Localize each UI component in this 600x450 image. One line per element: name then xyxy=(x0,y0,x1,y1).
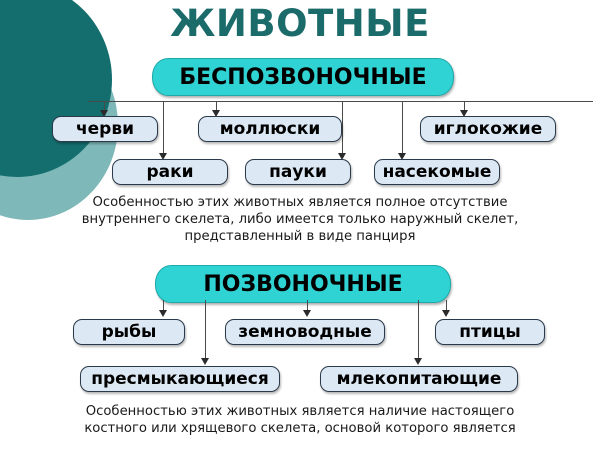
node-mollyuski-label: моллюски xyxy=(220,119,321,139)
note-vertebrates-line-1: Особенностью этих животных является нали… xyxy=(20,403,580,420)
node-pticy-label: птицы xyxy=(459,322,520,342)
connector-invertebrates-iglokozhie xyxy=(464,101,465,113)
node-presmykayushchiesya-label: пресмыкающиеся xyxy=(91,369,269,389)
connector-invertebrates-mollyuski xyxy=(216,101,217,113)
connector-bus-invertebrates xyxy=(88,101,593,102)
node-raki-label: раки xyxy=(146,162,193,182)
node-pauki[interactable]: пауки xyxy=(245,159,351,185)
note-invertebrates: Особенностью этих животных является полн… xyxy=(20,194,580,245)
connector-vertebrates-presmykayushchiesya xyxy=(205,300,206,362)
page-title: ЖИВОТНЫЕ xyxy=(0,2,600,45)
connector-invertebrates-pauki xyxy=(342,101,343,157)
node-mollyuski[interactable]: моллюски xyxy=(198,116,342,142)
group-heading-vertebrates-label: ПОЗВОНОЧНЫЕ xyxy=(203,272,402,297)
note-invertebrates-line-2: внутреннего скелета, либо имеется только… xyxy=(20,211,580,228)
connector-invertebrates-raki xyxy=(163,101,164,157)
node-zemnovodnye[interactable]: земноводные xyxy=(225,319,385,345)
connector-vertebrates-pticy xyxy=(446,300,447,313)
node-nasekomye[interactable]: насекомые xyxy=(374,159,500,185)
note-vertebrates-line-2: костного или хрящевого скелета, основой … xyxy=(20,420,580,437)
node-iglokozhie-label: иглокожие xyxy=(434,119,543,139)
node-nasekomye-label: насекомые xyxy=(383,162,492,182)
node-iglokozhie[interactable]: иглокожие xyxy=(420,116,556,142)
node-chervi[interactable]: черви xyxy=(52,116,158,142)
node-presmykayushchiesya[interactable]: пресмыкающиеся xyxy=(80,366,280,392)
arrowhead-zemnovodnye xyxy=(303,310,311,317)
connector-vertebrates-ryby xyxy=(163,300,164,313)
note-vertebrates: Особенностью этих животных является нали… xyxy=(20,403,580,437)
animal-classification-diagram: ЖИВОТНЫЕ БЕСПОЗВОНОЧНЫЕ черви моллюски и… xyxy=(0,0,600,450)
node-ryby-label: рыбы xyxy=(102,322,157,342)
group-heading-vertebrates[interactable]: ПОЗВОНОЧНЫЕ xyxy=(155,265,451,303)
connector-invertebrates-chervi xyxy=(104,101,105,113)
connector-invertebrates-nasekomye xyxy=(402,101,403,157)
group-heading-invertebrates[interactable]: БЕСПОЗВОНОЧНЫЕ xyxy=(152,58,454,96)
group-heading-invertebrates-label: БЕСПОЗВОНОЧНЫЕ xyxy=(179,65,426,90)
node-pticy[interactable]: птицы xyxy=(435,319,545,345)
node-mlekopitayushchie-label: млекопитающие xyxy=(337,369,502,389)
node-zemnovodnye-label: земноводные xyxy=(238,322,372,342)
node-raki[interactable]: раки xyxy=(112,159,228,185)
note-invertebrates-line-1: Особенностью этих животных является полн… xyxy=(20,194,580,211)
node-ryby[interactable]: рыбы xyxy=(73,319,185,345)
note-invertebrates-line-3: представленный в виде панциря xyxy=(20,228,580,245)
node-chervi-label: черви xyxy=(76,119,134,139)
arrowhead-presmykayushchiesya xyxy=(201,358,209,365)
arrowhead-ryby xyxy=(159,310,167,317)
connector-vertebrates-mlekopitayushchie xyxy=(418,300,419,362)
node-pauki-label: пауки xyxy=(269,162,327,182)
arrowhead-mlekopitayushchie xyxy=(414,358,422,365)
arrowhead-pticy xyxy=(442,310,450,317)
node-mlekopitayushchie[interactable]: млекопитающие xyxy=(320,366,518,392)
